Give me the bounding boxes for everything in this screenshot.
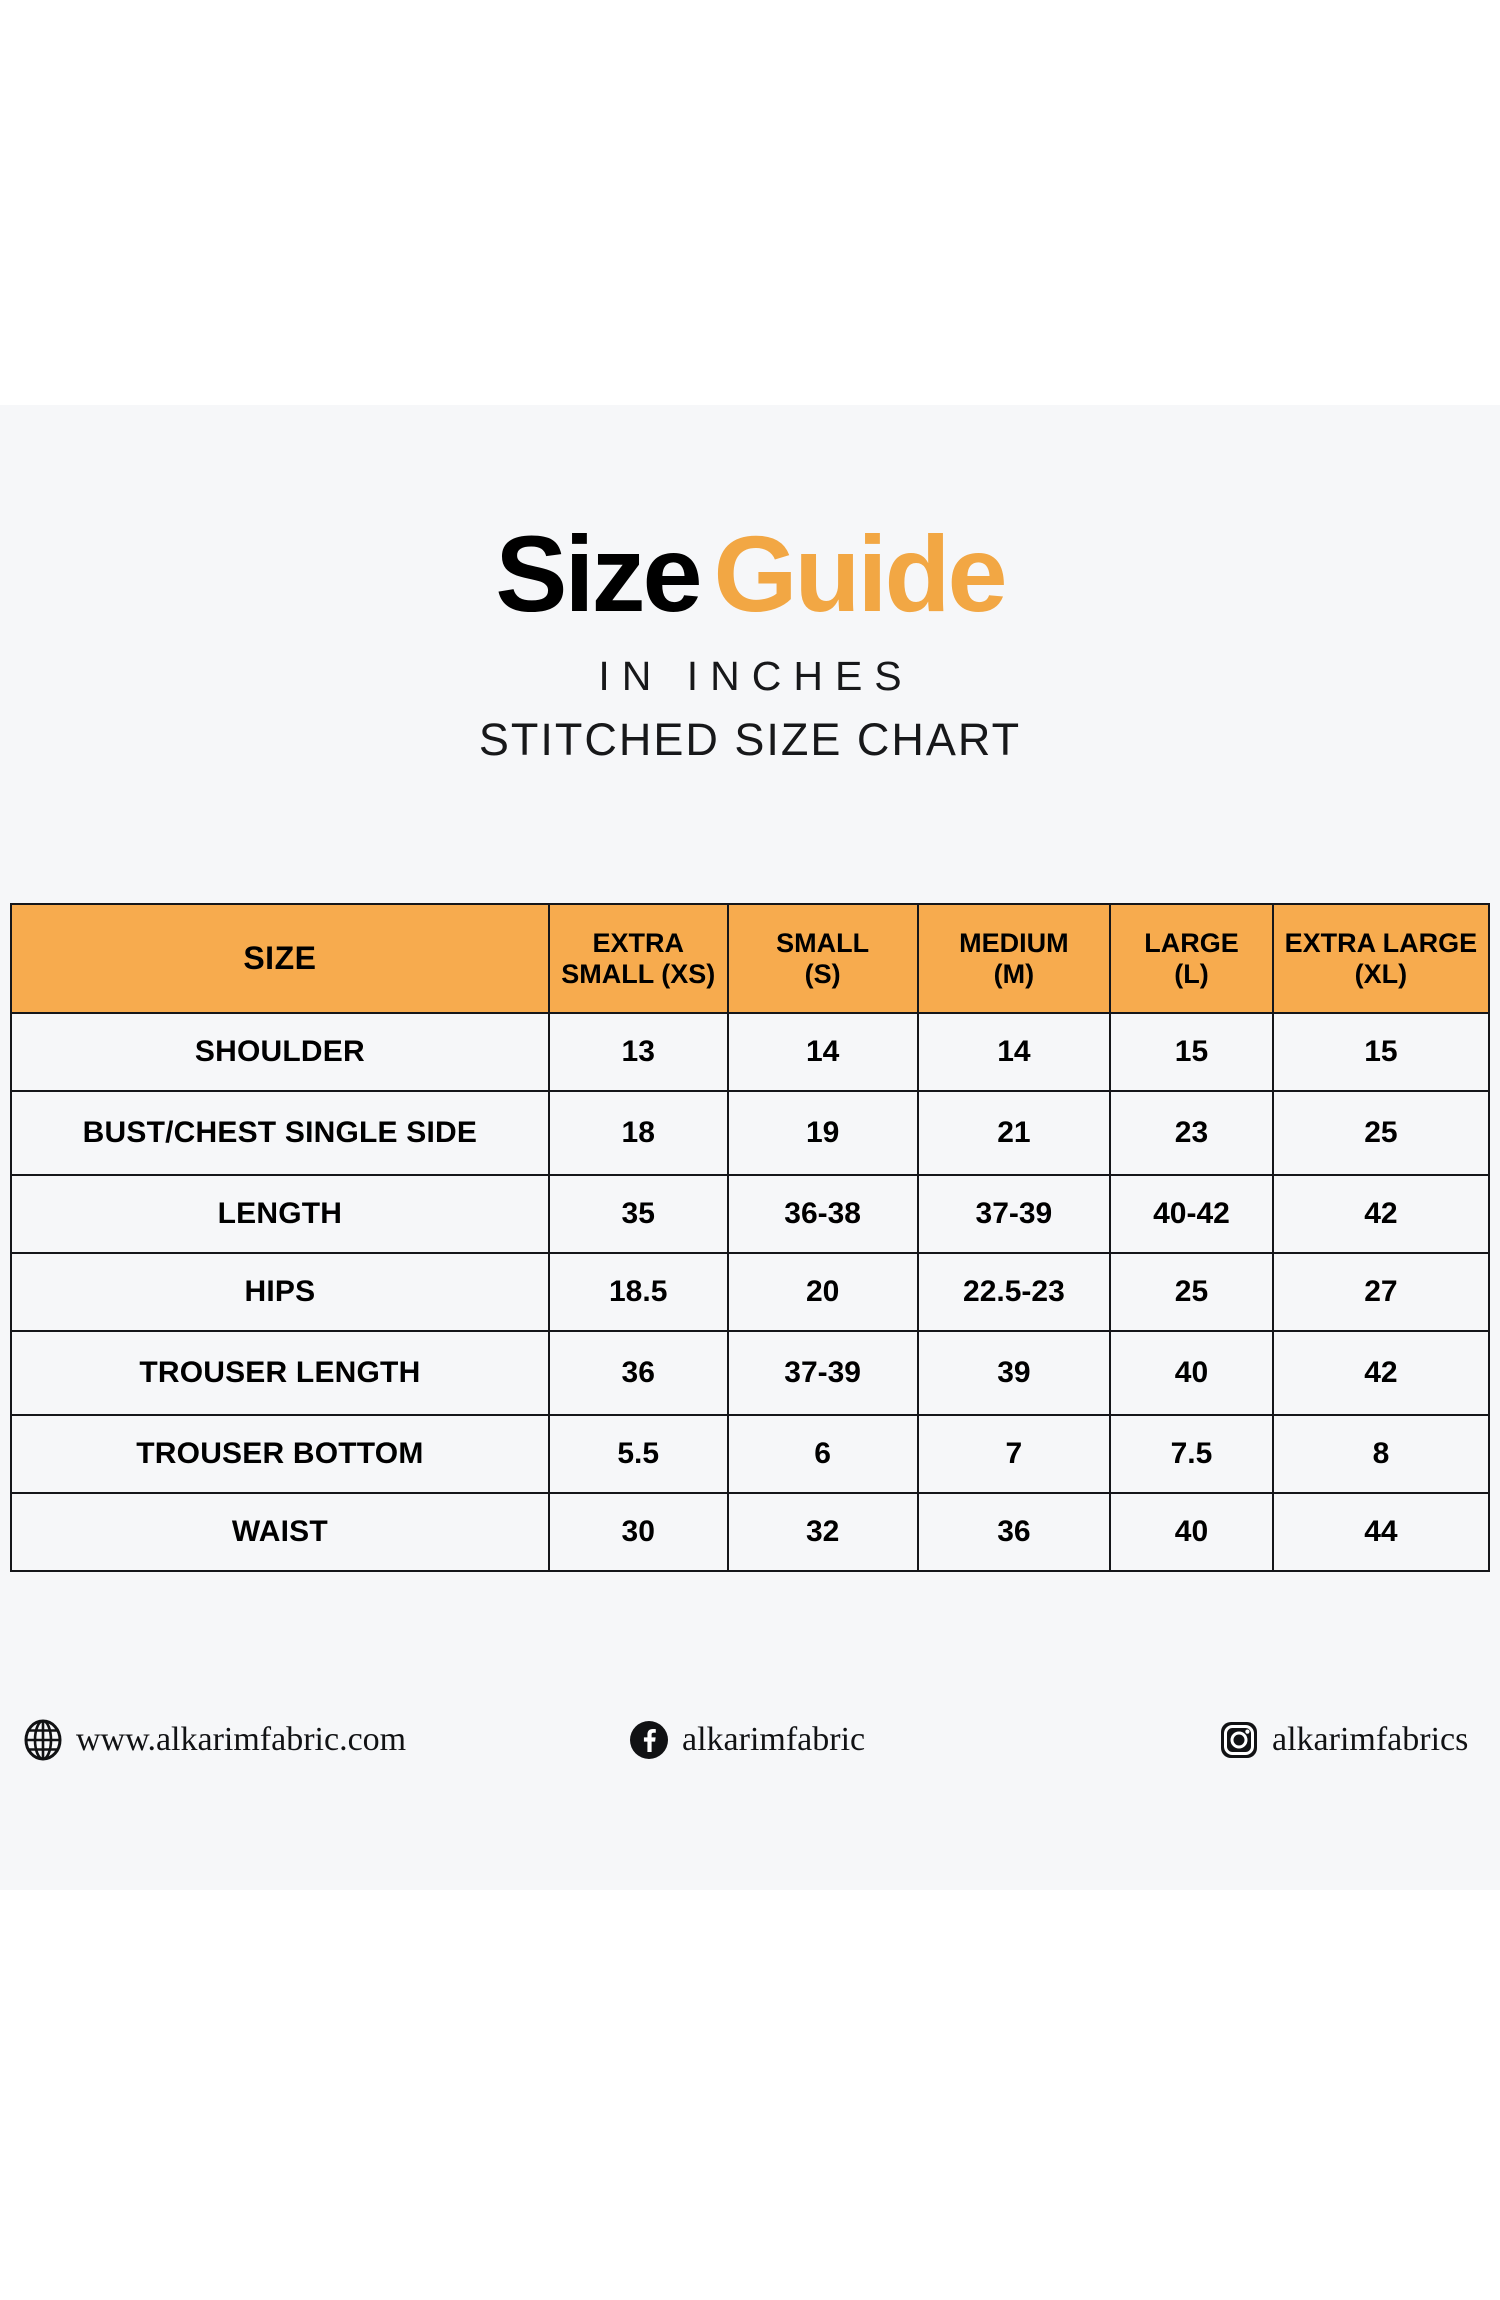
page-title: SizeGuide	[0, 520, 1500, 628]
title-word-size: Size	[495, 513, 699, 634]
cell-trouser-length-xl: 42	[1273, 1331, 1489, 1415]
column-header-l-line1: LARGE	[1113, 928, 1270, 958]
cell-length-xl: 42	[1273, 1175, 1489, 1253]
title-word-guide: Guide	[714, 513, 1005, 634]
footer-website-label: www.alkarimfabric.com	[76, 1721, 406, 1759]
row-label-shoulder: SHOULDER	[11, 1013, 549, 1091]
cell-length-s: 36-38	[728, 1175, 918, 1253]
cell-trouser-bottom-xs: 5.5	[549, 1415, 728, 1493]
size-table-container: SIZE EXTRA SMALL (XS) SMALL (S) MEDIUM	[10, 903, 1490, 1572]
cell-shoulder-xl: 15	[1273, 1013, 1489, 1091]
column-header-xl-line2: (XL)	[1276, 959, 1486, 989]
size-guide-card: SizeGuide IN INCHES STITCHED SIZE CHART …	[0, 405, 1500, 1890]
column-header-xl-line1: EXTRA LARGE	[1276, 928, 1486, 958]
cell-trouser-length-m: 39	[918, 1331, 1111, 1415]
cell-trouser-length-l: 40	[1110, 1331, 1273, 1415]
row-label-bust-chest: BUST/CHEST SINGLE SIDE	[11, 1091, 549, 1175]
footer-facebook[interactable]: alkarimfabric	[628, 1719, 865, 1761]
table-row: TROUSER LENGTH 36 37-39 39 40 42	[11, 1331, 1489, 1415]
footer: www.alkarimfabric.com alkarimfabric	[0, 1695, 1500, 1785]
table-row: HIPS 18.5 20 22.5-23 25 27	[11, 1253, 1489, 1331]
cell-hips-s: 20	[728, 1253, 918, 1331]
facebook-icon	[628, 1719, 670, 1761]
column-header-m-line1: MEDIUM	[921, 928, 1108, 958]
size-guide-page: SizeGuide IN INCHES STITCHED SIZE CHART …	[0, 0, 1500, 2300]
column-header-xl: EXTRA LARGE (XL)	[1273, 904, 1489, 1013]
row-label-trouser-length: TROUSER LENGTH	[11, 1331, 549, 1415]
cell-length-l: 40-42	[1110, 1175, 1273, 1253]
column-header-l: LARGE (L)	[1110, 904, 1273, 1013]
cell-waist-xs: 30	[549, 1493, 728, 1571]
table-header-row: SIZE EXTRA SMALL (XS) SMALL (S) MEDIUM	[11, 904, 1489, 1013]
cell-waist-s: 32	[728, 1493, 918, 1571]
column-header-xs-line2: SMALL (XS)	[552, 959, 725, 989]
subtitle-chart-type: STITCHED SIZE CHART	[0, 717, 1500, 762]
column-header-s: SMALL (S)	[728, 904, 918, 1013]
column-header-xs: EXTRA SMALL (XS)	[549, 904, 728, 1013]
header-block: SizeGuide IN INCHES STITCHED SIZE CHART	[0, 405, 1500, 762]
table-row: LENGTH 35 36-38 37-39 40-42 42	[11, 1175, 1489, 1253]
cell-waist-m: 36	[918, 1493, 1111, 1571]
cell-bust-s: 19	[728, 1091, 918, 1175]
cell-waist-xl: 44	[1273, 1493, 1489, 1571]
column-header-size-line1: SIZE	[14, 941, 546, 977]
instagram-icon	[1218, 1719, 1260, 1761]
globe-icon	[22, 1719, 64, 1761]
cell-trouser-bottom-l: 7.5	[1110, 1415, 1273, 1493]
cell-length-m: 37-39	[918, 1175, 1111, 1253]
cell-trouser-length-xs: 36	[549, 1331, 728, 1415]
table-body: SHOULDER 13 14 14 15 15 BUST/CHEST SINGL…	[11, 1013, 1489, 1571]
table-row: WAIST 30 32 36 40 44	[11, 1493, 1489, 1571]
row-label-trouser-bottom: TROUSER BOTTOM	[11, 1415, 549, 1493]
cell-hips-m: 22.5-23	[918, 1253, 1111, 1331]
cell-bust-xl: 25	[1273, 1091, 1489, 1175]
row-label-hips: HIPS	[11, 1253, 549, 1331]
footer-website[interactable]: www.alkarimfabric.com	[22, 1719, 406, 1761]
table-row: BUST/CHEST SINGLE SIDE 18 19 21 23 25	[11, 1091, 1489, 1175]
table-row: TROUSER BOTTOM 5.5 6 7 7.5 8	[11, 1415, 1489, 1493]
cell-trouser-bottom-xl: 8	[1273, 1415, 1489, 1493]
footer-instagram[interactable]: alkarimfabrics	[1218, 1719, 1468, 1761]
row-label-waist: WAIST	[11, 1493, 549, 1571]
cell-waist-l: 40	[1110, 1493, 1273, 1571]
cell-shoulder-s: 14	[728, 1013, 918, 1091]
cell-shoulder-m: 14	[918, 1013, 1111, 1091]
row-label-length: LENGTH	[11, 1175, 549, 1253]
cell-hips-l: 25	[1110, 1253, 1273, 1331]
column-header-l-line2: (L)	[1113, 959, 1270, 989]
column-header-xs-line1: EXTRA	[552, 928, 725, 958]
table-header: SIZE EXTRA SMALL (XS) SMALL (S) MEDIUM	[11, 904, 1489, 1013]
footer-instagram-label: alkarimfabrics	[1272, 1721, 1468, 1759]
cell-bust-l: 23	[1110, 1091, 1273, 1175]
cell-hips-xs: 18.5	[549, 1253, 728, 1331]
subtitle-units: IN INCHES	[0, 656, 1500, 697]
cell-bust-xs: 18	[549, 1091, 728, 1175]
column-header-size: SIZE	[11, 904, 549, 1013]
column-header-m-line2: (M)	[921, 959, 1108, 989]
cell-bust-m: 21	[918, 1091, 1111, 1175]
cell-trouser-bottom-s: 6	[728, 1415, 918, 1493]
cell-shoulder-xs: 13	[549, 1013, 728, 1091]
footer-facebook-label: alkarimfabric	[682, 1721, 865, 1759]
table-row: SHOULDER 13 14 14 15 15	[11, 1013, 1489, 1091]
column-header-s-line1: SMALL	[731, 928, 915, 958]
cell-length-xs: 35	[549, 1175, 728, 1253]
column-header-m: MEDIUM (M)	[918, 904, 1111, 1013]
size-chart-table: SIZE EXTRA SMALL (XS) SMALL (S) MEDIUM	[10, 903, 1490, 1572]
cell-trouser-bottom-m: 7	[918, 1415, 1111, 1493]
cell-hips-xl: 27	[1273, 1253, 1489, 1331]
column-header-s-line2: (S)	[731, 959, 915, 989]
cell-shoulder-l: 15	[1110, 1013, 1273, 1091]
cell-trouser-length-s: 37-39	[728, 1331, 918, 1415]
